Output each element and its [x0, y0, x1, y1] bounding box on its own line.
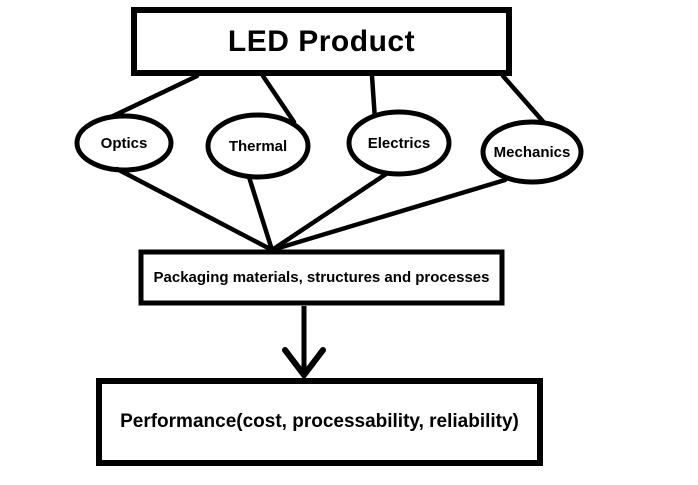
diagram-canvas: LED Product Optics Thermal Electrics Mec… — [0, 0, 698, 485]
connector-top-to-mechanics — [503, 76, 547, 126]
packaging-box-shape[interactable] — [141, 252, 502, 303]
ellipse-mechanics-shape[interactable] — [483, 122, 581, 182]
diagram-graphics — [0, 0, 698, 485]
ellipse-optics-shape[interactable] — [77, 116, 171, 170]
performance-box-shape[interactable] — [99, 381, 540, 463]
ellipse-thermal-shape[interactable] — [208, 115, 308, 177]
ellipse-electrics-shape[interactable] — [349, 112, 449, 174]
connector-electrics-to-packaging — [272, 174, 386, 250]
connector-mechanics-to-packaging — [272, 180, 505, 250]
led-product-box-shape[interactable] — [134, 10, 509, 73]
